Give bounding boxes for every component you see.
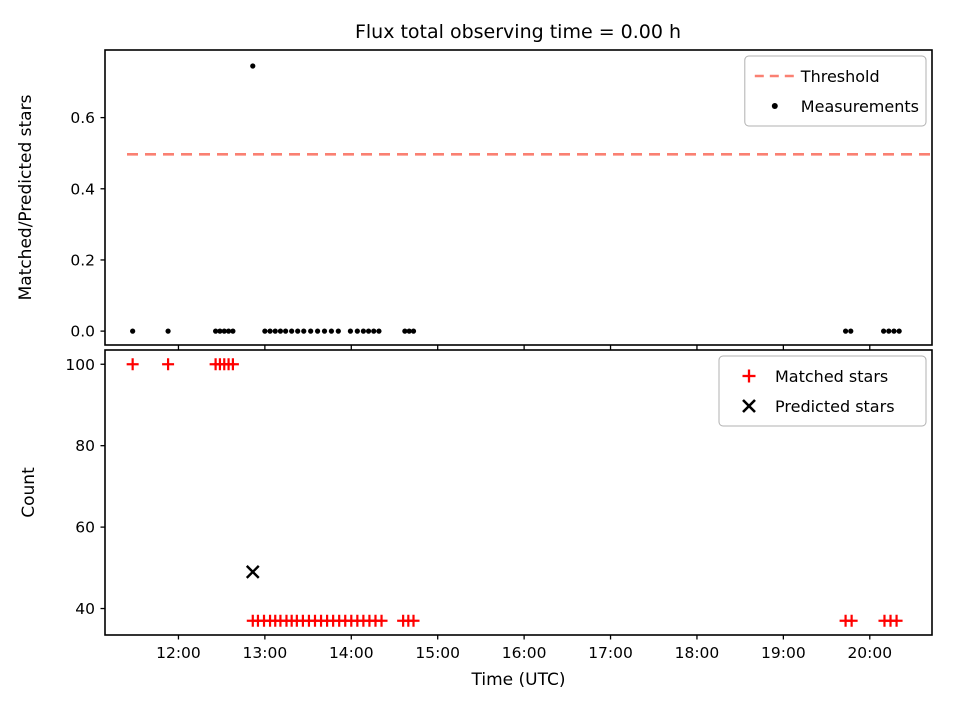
measurement-point bbox=[308, 329, 313, 334]
legend-dot-icon bbox=[772, 103, 778, 109]
measurement-point bbox=[283, 329, 288, 334]
matched-star-marker bbox=[162, 358, 174, 370]
predicted-star-marker bbox=[247, 566, 259, 578]
y-tick-label-top-0: 0.0 bbox=[70, 323, 95, 341]
matplotlib-figure: Flux total observing time = 0.00 h0.00.2… bbox=[0, 0, 960, 720]
x-tick-label-1: 13:00 bbox=[243, 644, 288, 662]
y-tick-label-bottom-0: 40 bbox=[75, 600, 95, 618]
legend-label-matched-stars: Matched stars bbox=[775, 367, 888, 386]
x-axis-label: Time (UTC) bbox=[471, 670, 566, 690]
measurement-point bbox=[165, 329, 170, 334]
measurement-point bbox=[329, 329, 334, 334]
measurement-point bbox=[897, 329, 902, 334]
measurement-point bbox=[322, 329, 327, 334]
measurement-point bbox=[848, 329, 853, 334]
measurement-point bbox=[130, 329, 135, 334]
x-tick-label-6: 18:00 bbox=[675, 644, 720, 662]
measurement-point bbox=[301, 329, 306, 334]
legend-label-measurements: Measurements bbox=[801, 97, 919, 116]
measurement-point bbox=[886, 329, 891, 334]
matched-star-marker bbox=[846, 615, 858, 627]
y-tick-label-bottom-2: 80 bbox=[75, 437, 95, 455]
axes-panel-top: 0.00.20.40.6Matched/Predicted starsThres… bbox=[16, 50, 932, 350]
plot-canvas: Flux total observing time = 0.00 h0.00.2… bbox=[0, 0, 960, 720]
figure-title-text: Flux total observing time = 0.00 h bbox=[355, 21, 681, 43]
legend-bottom: Matched starsPredicted stars bbox=[719, 356, 926, 426]
y-tick-label-bottom-1: 60 bbox=[75, 519, 95, 537]
measurement-point bbox=[348, 329, 353, 334]
x-tick-label-0: 12:00 bbox=[156, 644, 201, 662]
y-tick-label-top-1: 0.2 bbox=[70, 251, 95, 269]
measurement-point bbox=[262, 329, 267, 334]
measurement-point bbox=[295, 329, 300, 334]
x-tick-label-4: 16:00 bbox=[502, 644, 547, 662]
axes-panel-bottom: 12:0013:0014:0015:0016:0017:0018:0019:00… bbox=[19, 350, 932, 690]
x-tick-label-3: 15:00 bbox=[415, 644, 460, 662]
measurement-point bbox=[355, 329, 360, 334]
x-tick-label-2: 14:00 bbox=[329, 644, 374, 662]
y-tick-label-bottom-3: 100 bbox=[65, 356, 95, 374]
x-tick-label-5: 17:00 bbox=[588, 644, 633, 662]
y-axis-label-top: Matched/Predicted stars bbox=[16, 94, 36, 300]
x-tick-label-7: 19:00 bbox=[761, 644, 806, 662]
y-tick-label-top-3: 0.6 bbox=[70, 109, 95, 127]
measurement-point bbox=[278, 329, 283, 334]
measurement-point bbox=[273, 329, 278, 334]
measurement-point bbox=[891, 329, 896, 334]
matched-star-marker bbox=[891, 615, 903, 627]
legend-label-predicted-stars: Predicted stars bbox=[775, 397, 895, 416]
y-tick-label-top-2: 0.4 bbox=[70, 180, 95, 198]
measurement-point bbox=[336, 329, 341, 334]
legend-top: ThresholdMeasurements bbox=[745, 56, 926, 126]
matched-star-marker bbox=[376, 615, 388, 627]
measurement-point bbox=[371, 329, 376, 334]
measurement-point bbox=[289, 329, 294, 334]
measurement-point bbox=[376, 329, 381, 334]
measurement-point bbox=[411, 329, 416, 334]
measurement-point bbox=[361, 329, 366, 334]
measurement-point bbox=[881, 329, 886, 334]
measurement-point bbox=[250, 63, 255, 68]
measurement-point bbox=[267, 329, 272, 334]
matched-star-marker bbox=[127, 358, 139, 370]
legend-label-threshold: Threshold bbox=[800, 67, 880, 86]
x-tick-label-8: 20:00 bbox=[847, 644, 892, 662]
y-axis-label-bottom: Count bbox=[19, 467, 39, 518]
measurement-point bbox=[366, 329, 371, 334]
measurement-point bbox=[843, 329, 848, 334]
measurement-point bbox=[230, 329, 235, 334]
measurement-point bbox=[315, 329, 320, 334]
